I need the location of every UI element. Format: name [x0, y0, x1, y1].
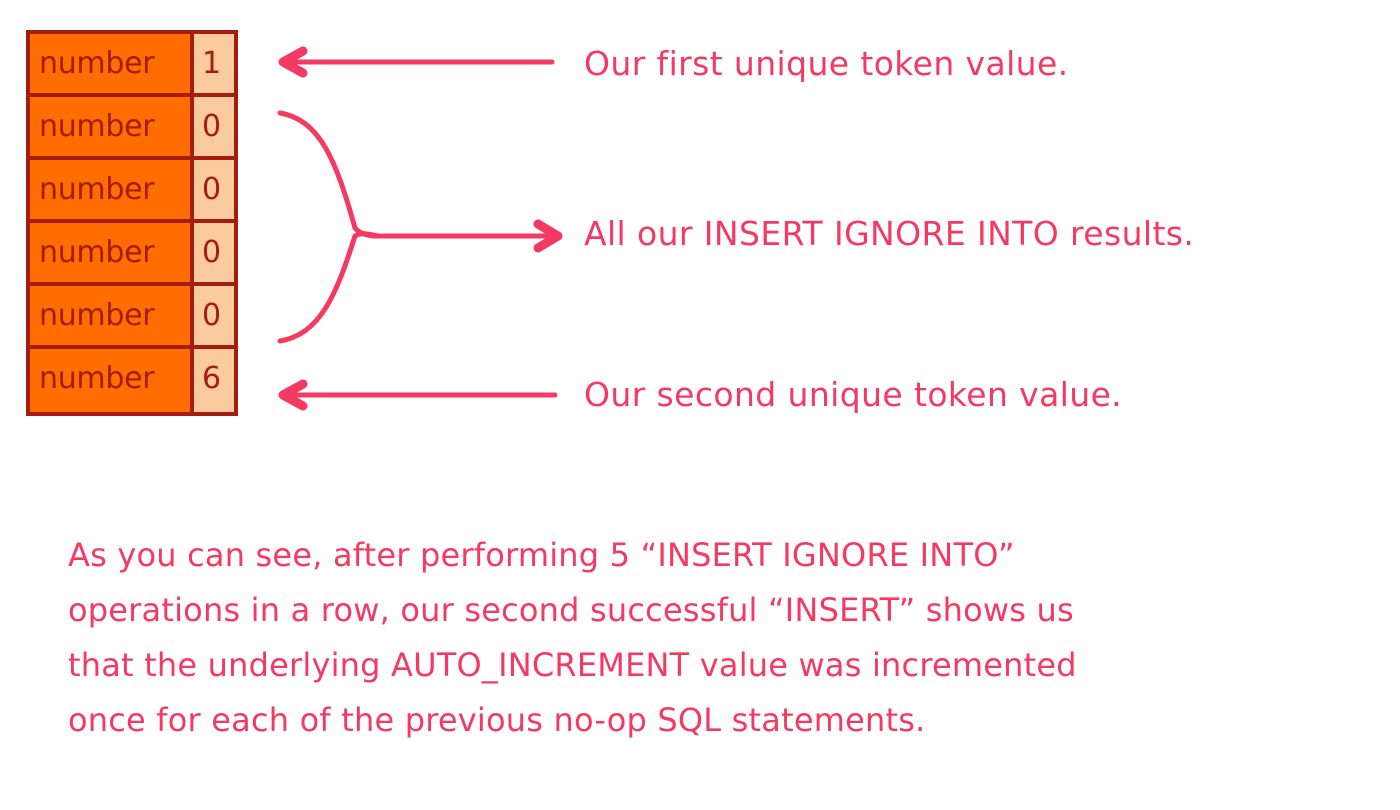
- table-row: number 0: [30, 223, 234, 286]
- table-cell-label: number: [30, 34, 194, 93]
- paragraph-line: As you can see, after performing 5 “INSE…: [68, 528, 1358, 583]
- table-cell-value: 0: [194, 160, 234, 219]
- table-cell-label: number: [30, 160, 194, 219]
- explanation-paragraph: As you can see, after performing 5 “INSE…: [68, 528, 1358, 748]
- result-table: number 1 number 0 number 0 number 0 numb…: [26, 30, 238, 416]
- table-cell-label: number: [30, 223, 194, 282]
- annotation-first-token: Our first unique token value.: [584, 44, 1069, 83]
- paragraph-line: operations in a row, our second successf…: [68, 583, 1358, 638]
- annotation-second-token: Our second unique token value.: [584, 375, 1122, 414]
- table-row: number 6: [30, 349, 234, 412]
- table-row: number 0: [30, 160, 234, 223]
- annotation-insert-ignore-results: All our INSERT IGNORE INTO results.: [584, 214, 1194, 253]
- table-cell-value: 0: [194, 286, 234, 345]
- table-row: number 0: [30, 97, 234, 160]
- table-cell-value: 0: [194, 97, 234, 156]
- table-cell-value: 6: [194, 349, 234, 412]
- table-cell-value: 0: [194, 223, 234, 282]
- table-cell-label: number: [30, 286, 194, 345]
- paragraph-line: that the underlying AUTO_INCREMENT value…: [68, 638, 1358, 693]
- arrow-left-top: [283, 51, 552, 73]
- table-cell-value: 1: [194, 34, 234, 93]
- paragraph-line: once for each of the previous no-op SQL …: [68, 693, 1358, 748]
- table-cell-label: number: [30, 349, 194, 412]
- arrow-left-bottom: [283, 384, 555, 406]
- arrow-brace-right: [280, 113, 558, 341]
- table-row: number 1: [30, 34, 234, 97]
- table-cell-label: number: [30, 97, 194, 156]
- table-row: number 0: [30, 286, 234, 349]
